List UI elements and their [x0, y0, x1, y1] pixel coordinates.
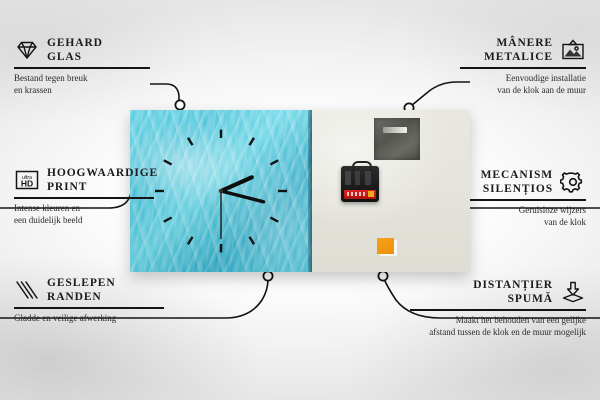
feature-title: GESLEPEN RANDEN: [47, 276, 116, 304]
feature-rule: [470, 199, 586, 201]
feature-rule: [410, 309, 586, 311]
feature-description: Geruisloze wijzers van de klok: [470, 205, 586, 229]
feature-header: GEHARD GLAS: [14, 36, 150, 64]
mechanism-hanger-loop: [352, 161, 372, 171]
feature-description: Gladde en veilige afwerking: [14, 313, 164, 325]
picture-frame-icon: [560, 38, 586, 62]
feature-title: GEHARD GLAS: [47, 36, 103, 64]
feature-description: Intense kleuren en een duidelijk beeld: [14, 203, 154, 227]
battery-terminal: [368, 191, 374, 197]
feature-header: DISTANȚIER SPUMĂ: [410, 278, 586, 306]
feature-rule: [14, 197, 154, 199]
clock-back-panel: [312, 110, 470, 272]
foam-spacer: [377, 238, 394, 254]
feature-description: Bestand tegen breuk en krassen: [14, 73, 150, 97]
gear-icon: [560, 170, 586, 194]
feature-header: ultra HD HOOGWAARDIGE PRINT: [14, 166, 154, 194]
feature-mecanism-silentios: MECANISM SILENȚIOS Geruisloze wijzers va…: [470, 168, 586, 228]
battery: [344, 190, 376, 199]
mechanism-detail: [345, 171, 375, 185]
feature-gehard-glas: GEHARD GLAS Bestand tegen breuk en krass…: [14, 36, 150, 96]
feature-title: MECANISM SILENȚIOS: [481, 168, 553, 196]
product-infographic: GEHARD GLAS Bestand tegen breuk en krass…: [0, 0, 600, 400]
feature-rule: [460, 67, 586, 69]
feature-rule: [14, 67, 150, 69]
clock-mechanism-box: [341, 166, 379, 202]
feature-description: Maakt het behouden van een gelijke afsta…: [410, 315, 586, 339]
feature-header: GESLEPEN RANDEN: [14, 276, 164, 304]
feature-header: MECANISM SILENȚIOS: [470, 168, 586, 196]
diagonal-lines-icon: [14, 278, 40, 302]
metal-hanger-plate: [374, 118, 420, 160]
product-image: [130, 110, 470, 272]
feature-header: MÂNERE METALICE: [460, 36, 586, 64]
feature-title: DISTANȚIER SPUMĂ: [473, 278, 553, 306]
hanger-slot: [383, 127, 407, 133]
feature-distantier-spuma: DISTANȚIER SPUMĂ Maakt het behouden van …: [410, 278, 586, 338]
ultra-hd-icon: ultra HD: [14, 168, 40, 192]
svg-text:HD: HD: [21, 179, 33, 189]
feature-title: HOOGWAARDIGE PRINT: [47, 166, 158, 194]
feature-rule: [14, 307, 164, 309]
feature-manere-metalice: MÂNERE METALICE Eenvoudige installatie v…: [460, 36, 586, 96]
battery-label: [347, 192, 367, 196]
diamond-icon: [14, 38, 40, 62]
feature-title: MÂNERE METALICE: [484, 36, 553, 64]
spacer-arrow-icon: [560, 280, 586, 304]
feature-description: Eenvoudige installatie van de klok aan d…: [460, 73, 586, 97]
feature-geslepen-randen: GESLEPEN RANDEN Gladde en veilige afwerk…: [14, 276, 164, 325]
feature-hoogwaardige-print: ultra HD HOOGWAARDIGE PRINT Intense kleu…: [14, 166, 154, 226]
